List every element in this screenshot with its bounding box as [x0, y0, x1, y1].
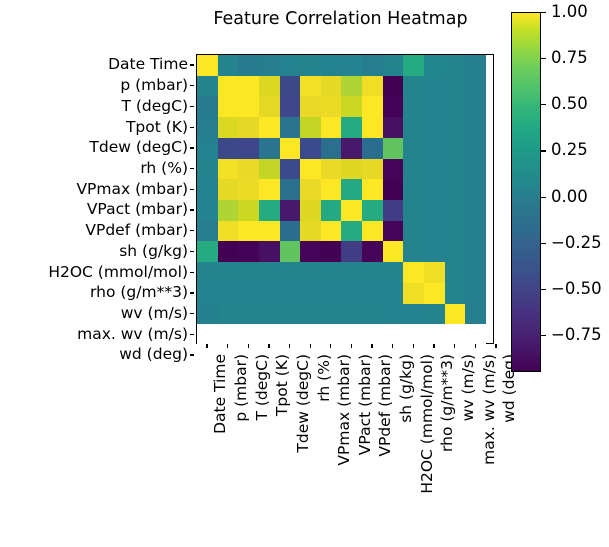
chart-title: Feature Correlation Heatmap	[196, 8, 485, 30]
heatmap-cell	[341, 55, 362, 76]
colorbar-tick-mark	[541, 289, 546, 290]
heatmap-cell	[445, 262, 466, 283]
x-tick-mark	[454, 344, 455, 348]
heatmap-cell	[383, 159, 404, 180]
heatmap-cell	[321, 76, 342, 97]
heatmap-cell	[424, 262, 445, 283]
heatmap-cell	[424, 179, 445, 200]
x-tick-label: p (mbar)	[233, 354, 249, 422]
heatmap-cell	[259, 96, 280, 117]
heatmap-cell	[280, 55, 301, 76]
heatmap-cell	[383, 324, 404, 345]
heatmap-cell	[465, 96, 486, 117]
heatmap-cell	[300, 76, 321, 97]
heatmap-cell	[341, 241, 362, 262]
heatmap-cell	[321, 283, 342, 304]
heatmap-cell	[259, 117, 280, 138]
heatmap-cell	[280, 179, 301, 200]
y-tick-label: sh (g/kg)	[0, 243, 188, 259]
heatmap-cell	[362, 324, 383, 345]
heatmap-cell	[403, 221, 424, 242]
heatmap-cell	[300, 262, 321, 283]
heatmap-cell	[218, 200, 239, 221]
x-tick-label: max. wv (m/s)	[481, 354, 497, 465]
heatmap-cell	[403, 304, 424, 325]
x-tick-label: Tpot (K)	[274, 354, 290, 416]
heatmap-cell	[445, 76, 466, 97]
heatmap-cell	[445, 283, 466, 304]
heatmap-cell	[280, 117, 301, 138]
colorbar-tick-label: 1.00	[551, 3, 588, 20]
heatmap-cell	[197, 262, 218, 283]
heatmap-cell	[465, 179, 486, 200]
heatmap-cell	[383, 138, 404, 159]
x-tick-mark	[392, 344, 393, 348]
y-tick-label: T (degC)	[0, 98, 188, 114]
heatmap-cell	[218, 283, 239, 304]
heatmap-cell	[238, 221, 259, 242]
heatmap-cell	[465, 262, 486, 283]
heatmap-cell	[362, 200, 383, 221]
heatmap-cell	[259, 179, 280, 200]
heatmap-cell	[445, 324, 466, 345]
heatmap-cell	[424, 55, 445, 76]
heatmap-cell	[218, 241, 239, 262]
heatmap-cell	[362, 283, 383, 304]
y-tick-mark	[190, 334, 194, 335]
heatmap-cell	[362, 262, 383, 283]
heatmap-cell	[218, 138, 239, 159]
heatmap-cell	[424, 96, 445, 117]
heatmap-cell	[280, 138, 301, 159]
x-tick-mark	[495, 344, 496, 348]
heatmap-cell	[321, 200, 342, 221]
heatmap-cell	[238, 200, 259, 221]
colorbar-tick-mark	[541, 150, 546, 151]
y-tick-label: Tpot (K)	[0, 119, 188, 135]
heatmap-cell	[300, 241, 321, 262]
heatmap-cell	[280, 159, 301, 180]
heatmap-cell	[341, 179, 362, 200]
heatmap-cell	[383, 96, 404, 117]
x-tick-mark	[433, 344, 434, 348]
heatmap-cell	[362, 117, 383, 138]
heatmap-cell	[238, 117, 259, 138]
colorbar-gradient	[511, 12, 541, 372]
y-tick-mark	[190, 189, 194, 190]
colorbar-tick-label: 0.75	[551, 49, 588, 66]
heatmap-cell	[383, 76, 404, 97]
heatmap-cell	[341, 304, 362, 325]
heatmap-cell	[259, 304, 280, 325]
y-tick-label: Date Time	[0, 56, 188, 72]
heatmap-cell	[445, 179, 466, 200]
heatmap-cell	[362, 179, 383, 200]
y-tick-mark	[190, 106, 194, 107]
heatmap-cell	[259, 55, 280, 76]
x-tick-mark	[227, 344, 228, 348]
x-tick-label: sh (g/kg)	[398, 354, 414, 423]
heatmap-cell	[362, 304, 383, 325]
heatmap-cell	[403, 324, 424, 345]
y-tick-mark	[190, 272, 194, 273]
y-tick-mark	[190, 313, 194, 314]
heatmap-cell	[383, 304, 404, 325]
heatmap-cell	[259, 221, 280, 242]
heatmap-cell	[238, 159, 259, 180]
heatmap-cell	[424, 221, 445, 242]
heatmap-cell	[197, 138, 218, 159]
heatmap-cell	[445, 304, 466, 325]
heatmap-cell	[259, 138, 280, 159]
x-tick-label: rho (g/m**3)	[439, 354, 455, 452]
heatmap-cell	[238, 179, 259, 200]
x-tick-mark	[206, 344, 207, 348]
x-tick-mark	[268, 344, 269, 348]
heatmap-cell	[197, 96, 218, 117]
heatmap-cell	[465, 324, 486, 345]
y-tick-label: Tdew (degC)	[0, 139, 188, 155]
heatmap-cell	[259, 241, 280, 262]
heatmap-cell	[259, 262, 280, 283]
x-tick-label: VPdef (mbar)	[377, 354, 393, 457]
heatmap-cell	[259, 324, 280, 345]
heatmap-cell	[238, 76, 259, 97]
heatmap-cell	[238, 55, 259, 76]
heatmap-cell	[362, 55, 383, 76]
heatmap-cell	[280, 76, 301, 97]
x-tick-mark	[310, 344, 311, 348]
heatmap-cell	[321, 179, 342, 200]
heatmap-cell	[321, 324, 342, 345]
x-tick-label: VPact (mbar)	[357, 354, 373, 455]
heatmap-cell	[445, 55, 466, 76]
x-tick-label: Tdew (degC)	[295, 354, 311, 453]
heatmap-cell	[197, 221, 218, 242]
heatmap-cell	[341, 159, 362, 180]
heatmap-cell	[341, 138, 362, 159]
heatmap-cell	[465, 117, 486, 138]
heatmap-cell	[197, 179, 218, 200]
heatmap-cell	[383, 179, 404, 200]
x-tick-mark	[330, 344, 331, 348]
y-tick-label: VPact (mbar)	[0, 201, 188, 217]
heatmap-cell	[383, 221, 404, 242]
heatmap-cell	[341, 200, 362, 221]
heatmap-cell	[300, 221, 321, 242]
y-tick-label: wd (deg)	[0, 346, 188, 362]
heatmap-cell	[300, 96, 321, 117]
heatmap-cell	[341, 262, 362, 283]
heatmap-cell	[280, 283, 301, 304]
x-tick-label: T (degC)	[254, 354, 270, 421]
y-tick-label: p (mbar)	[0, 77, 188, 93]
heatmap-cell	[321, 241, 342, 262]
heatmap-cell	[362, 138, 383, 159]
colorbar-tick-label: −0.25	[551, 234, 602, 251]
heatmap-cell	[403, 241, 424, 262]
heatmap-cell	[321, 96, 342, 117]
y-tick-mark	[190, 209, 194, 210]
heatmap-cell	[445, 159, 466, 180]
y-tick-mark	[190, 127, 194, 128]
heatmap-cell	[300, 200, 321, 221]
heatmap-cell	[280, 304, 301, 325]
y-tick-mark	[190, 354, 194, 355]
heatmap-cell	[197, 200, 218, 221]
heatmap-cell	[445, 117, 466, 138]
y-tick-label: rho (g/m**3)	[0, 284, 188, 300]
heatmap-cell	[383, 262, 404, 283]
heatmap-cell	[238, 241, 259, 262]
heatmap-cell	[341, 283, 362, 304]
heatmap-cell	[197, 241, 218, 262]
heatmap-cell	[259, 283, 280, 304]
heatmap-cell	[321, 262, 342, 283]
heatmap-cell	[424, 138, 445, 159]
y-tick-mark	[190, 64, 194, 65]
y-tick-label: VPmax (mbar)	[0, 181, 188, 197]
heatmap-cell	[424, 283, 445, 304]
x-tick-mark	[475, 344, 476, 348]
heatmap-cell	[218, 55, 239, 76]
heatmap-cell	[341, 221, 362, 242]
heatmap-cell	[465, 159, 486, 180]
heatmap-cell	[362, 241, 383, 262]
colorbar-tick-label: −0.75	[551, 326, 602, 343]
y-tick-mark	[190, 292, 194, 293]
heatmap-cell	[445, 241, 466, 262]
heatmap-cell	[362, 76, 383, 97]
heatmap-cell	[362, 96, 383, 117]
heatmap-cell	[197, 117, 218, 138]
heatmap-cell	[300, 159, 321, 180]
x-tick-label: wv (m/s)	[460, 354, 476, 421]
colorbar-tick-mark	[541, 104, 546, 105]
x-tick-mark	[248, 344, 249, 348]
x-tick-mark	[351, 344, 352, 348]
colorbar: 1.000.750.500.250.00−0.25−0.50−0.75	[511, 12, 607, 372]
heatmap-cell	[259, 76, 280, 97]
heatmap-cell	[280, 262, 301, 283]
heatmap-cell	[465, 55, 486, 76]
heatmap-grid	[197, 55, 486, 345]
y-tick-label: max. wv (m/s)	[0, 326, 188, 342]
heatmap-cell	[259, 200, 280, 221]
heatmap-cell	[218, 159, 239, 180]
y-tick-mark	[190, 85, 194, 86]
colorbar-tick-label: 0.25	[551, 141, 588, 158]
colorbar-tick-label: −0.50	[551, 280, 602, 297]
heatmap-cell	[424, 117, 445, 138]
heatmap-cell	[424, 159, 445, 180]
heatmap-cell	[465, 76, 486, 97]
heatmap-cell	[280, 96, 301, 117]
heatmap-cell	[280, 324, 301, 345]
colorbar-tick-mark	[541, 335, 546, 336]
heatmap-cell	[218, 117, 239, 138]
heatmap-cell	[197, 324, 218, 345]
heatmap-cell	[300, 304, 321, 325]
heatmap-cell	[424, 200, 445, 221]
heatmap-cell	[238, 138, 259, 159]
y-tick-mark	[190, 168, 194, 169]
heatmap-cell	[218, 221, 239, 242]
y-tick-mark	[190, 230, 194, 231]
heatmap-cell	[424, 241, 445, 262]
y-tick-mark	[190, 251, 194, 252]
heatmap-cell	[383, 241, 404, 262]
heatmap-cell	[383, 200, 404, 221]
heatmap-cell	[218, 76, 239, 97]
heatmap-cell	[403, 262, 424, 283]
heatmap-cell	[259, 159, 280, 180]
heatmap-cell	[238, 283, 259, 304]
heatmap-cell	[300, 55, 321, 76]
heatmap-cell	[341, 117, 362, 138]
heatmap-cell	[424, 76, 445, 97]
heatmap-axes	[196, 54, 494, 344]
heatmap-cell	[465, 283, 486, 304]
heatmap-cell	[383, 117, 404, 138]
heatmap-cell	[238, 304, 259, 325]
heatmap-cell	[218, 96, 239, 117]
colorbar-tick-label: 0.50	[551, 95, 588, 112]
y-tick-mark	[190, 147, 194, 148]
heatmap-cell	[465, 221, 486, 242]
heatmap-cell	[341, 324, 362, 345]
heatmap-cell	[445, 96, 466, 117]
heatmap-cell	[341, 96, 362, 117]
heatmap-cell	[403, 283, 424, 304]
heatmap-cell	[424, 304, 445, 325]
x-tick-mark	[289, 344, 290, 348]
y-tick-label: wv (m/s)	[0, 305, 188, 321]
y-axis-tick-labels: Date Timep (mbar)T (degC)Tpot (K)Tdew (d…	[0, 54, 188, 344]
heatmap-cell	[280, 221, 301, 242]
colorbar-tick-mark	[541, 58, 546, 59]
heatmap-cell	[321, 221, 342, 242]
y-tick-label: rh (%)	[0, 160, 188, 176]
heatmap-cell	[238, 262, 259, 283]
heatmap-cell	[218, 324, 239, 345]
heatmap-cell	[341, 76, 362, 97]
heatmap-cell	[403, 117, 424, 138]
y-tick-label: H2OC (mmol/mol)	[0, 264, 188, 280]
x-tick-mark	[413, 344, 414, 348]
heatmap-cell	[424, 324, 445, 345]
heatmap-cell	[321, 304, 342, 325]
heatmap-cell	[445, 200, 466, 221]
x-tick-label: rh (%)	[316, 354, 332, 402]
heatmap-cell	[445, 138, 466, 159]
heatmap-cell	[300, 324, 321, 345]
heatmap-cell	[218, 179, 239, 200]
heatmap-cell	[300, 117, 321, 138]
x-tick-mark	[371, 344, 372, 348]
colorbar-tick-mark	[541, 197, 546, 198]
heatmap-cell	[403, 96, 424, 117]
heatmap-cell	[300, 283, 321, 304]
heatmap-cell	[362, 221, 383, 242]
heatmap-cell	[218, 304, 239, 325]
heatmap-cell	[403, 179, 424, 200]
x-tick-label: H2OC (mmol/mol)	[419, 354, 435, 494]
x-tick-label: VPmax (mbar)	[336, 354, 352, 466]
heatmap-cell	[321, 159, 342, 180]
heatmap-cell	[300, 138, 321, 159]
heatmap-cell	[362, 159, 383, 180]
heatmap-cell	[197, 76, 218, 97]
heatmap-cell	[280, 200, 301, 221]
colorbar-tick-mark	[541, 12, 546, 13]
heatmap-cell	[465, 304, 486, 325]
heatmap-cell	[403, 200, 424, 221]
heatmap-cell	[403, 55, 424, 76]
colorbar-tick-mark	[541, 243, 546, 244]
x-tick-label: Date Time	[212, 354, 228, 434]
heatmap-cell	[321, 117, 342, 138]
heatmap-cell	[383, 283, 404, 304]
heatmap-cell	[197, 159, 218, 180]
heatmap-cell	[238, 96, 259, 117]
heatmap-cell	[465, 241, 486, 262]
heatmap-cell	[321, 55, 342, 76]
heatmap-cell	[197, 283, 218, 304]
heatmap-cell	[383, 55, 404, 76]
heatmap-cell	[300, 179, 321, 200]
heatmap-cell	[238, 324, 259, 345]
heatmap-cell	[465, 138, 486, 159]
heatmap-cell	[280, 241, 301, 262]
heatmap-cell	[197, 55, 218, 76]
y-tick-label: VPdef (mbar)	[0, 222, 188, 238]
heatmap-cell	[321, 138, 342, 159]
figure-canvas: Feature Correlation Heatmap Date Timep (…	[0, 0, 609, 547]
heatmap-cell	[403, 76, 424, 97]
heatmap-cell	[445, 221, 466, 242]
x-axis-tick-labels: Date Timep (mbar)T (degC)Tpot (K)Tdew (d…	[196, 344, 485, 544]
colorbar-tick-label: 0.00	[551, 188, 588, 205]
heatmap-cell	[465, 200, 486, 221]
heatmap-cell	[403, 138, 424, 159]
heatmap-cell	[197, 304, 218, 325]
heatmap-cell	[403, 159, 424, 180]
heatmap-cell	[218, 262, 239, 283]
